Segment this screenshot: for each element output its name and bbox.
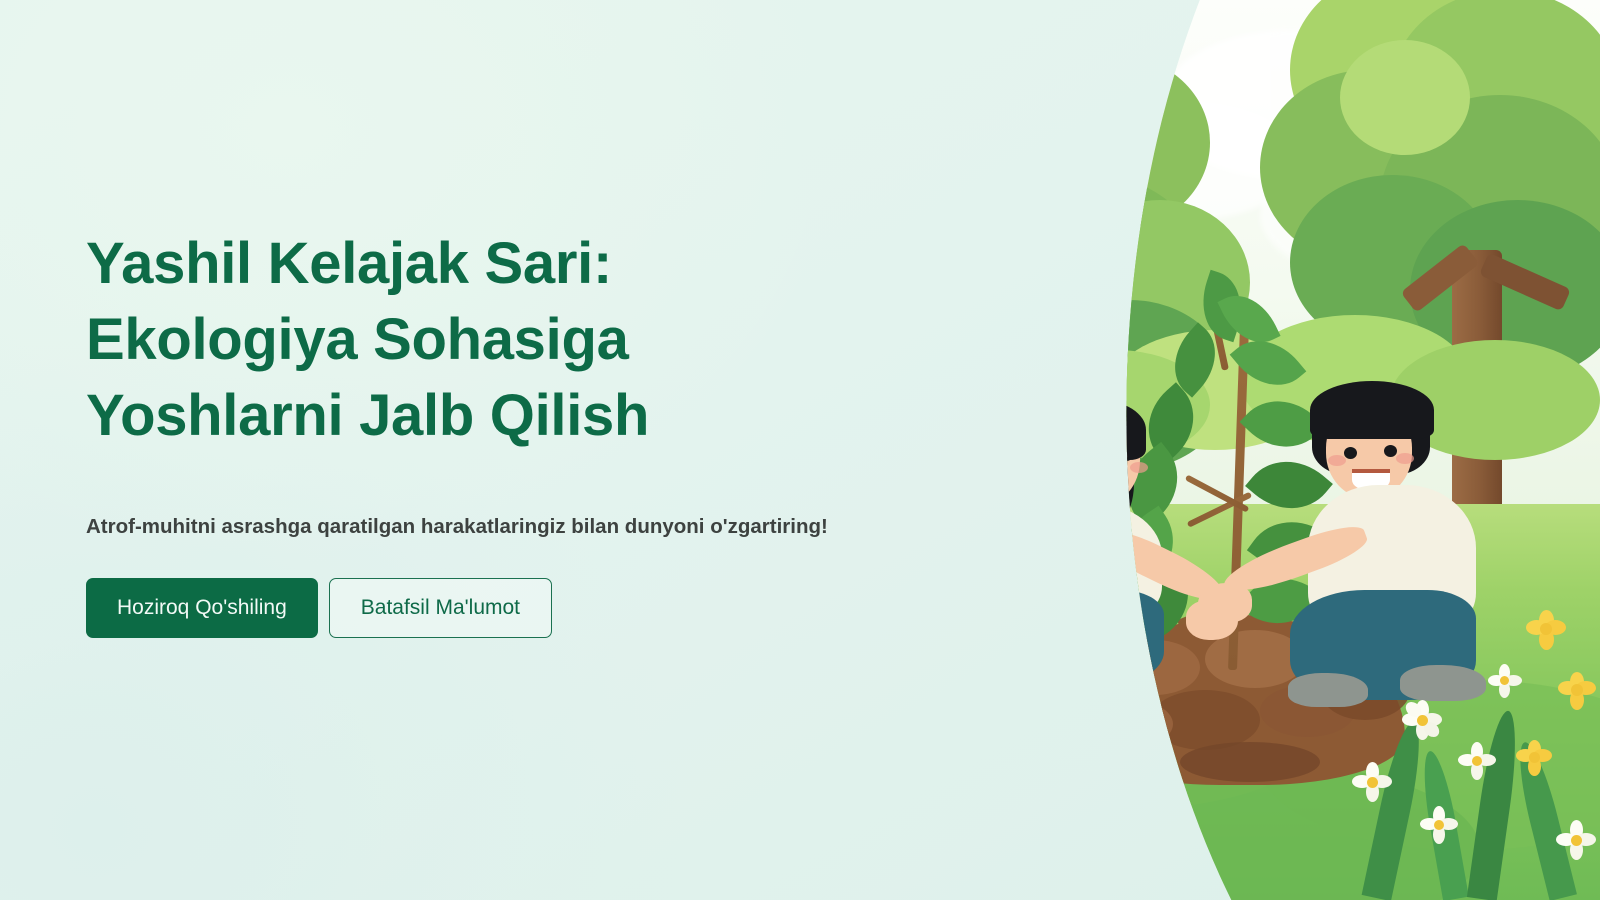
girl-hair — [1016, 395, 1134, 545]
boy-eye-right — [1384, 445, 1397, 457]
boy-eye-left — [1344, 447, 1357, 459]
girl-eye-left — [1082, 457, 1099, 465]
girl-smile — [1092, 474, 1126, 494]
more-info-button[interactable]: Batafsil Ma'lumot — [329, 578, 552, 638]
white-daisy-6 — [1556, 820, 1596, 860]
headline-line-1: Yashil Kelajak Sari: — [86, 226, 726, 302]
tree-left-trunk — [1020, 380, 1064, 530]
headline-line-2: Ekologiya Sohasiga — [86, 302, 726, 378]
girl-shoe — [1038, 662, 1114, 694]
page-title: Yashil Kelajak Sari: Ekologiya Sohasiga … — [86, 226, 726, 454]
white-daisy-2 — [1458, 742, 1496, 780]
yellow-flower-3 — [1072, 716, 1108, 752]
hero-illustration — [960, 0, 1600, 900]
yellow-flower-2 — [972, 736, 1012, 776]
hero-section: Yashil Kelajak Sari: Ekologiya Sohasiga … — [0, 0, 1600, 900]
yellow-flower-4 — [1526, 610, 1566, 650]
boy-shoe-right — [1400, 665, 1486, 701]
white-daisy-4 — [1420, 806, 1458, 844]
white-daisy-3 — [1352, 762, 1392, 802]
boy-shoe-left — [1288, 673, 1368, 707]
join-now-button[interactable]: Hoziroq Qo'shiling — [86, 578, 318, 638]
yellow-flower-1 — [1018, 690, 1064, 736]
hero-copy: Yashil Kelajak Sari: Ekologiya Sohasiga … — [86, 226, 726, 638]
hero-subtitle: Atrof-muhitni asrashga qaratilgan haraka… — [86, 506, 846, 547]
yellow-flower-6 — [1516, 740, 1552, 776]
girl-jeans — [996, 590, 1164, 686]
boy-figure — [1260, 385, 1520, 705]
yellow-flower-5 — [1558, 672, 1596, 710]
girl-figure — [990, 400, 1220, 700]
headline-line-3: Yoshlarni Jalb Qilish — [86, 378, 726, 454]
boy-hand — [1198, 583, 1252, 623]
white-daisy-5 — [1488, 664, 1522, 698]
white-daisy-1 — [1402, 700, 1442, 740]
illustration-canvas — [960, 0, 1600, 900]
cta-button-row: Hoziroq Qo'shiling Batafsil Ma'lumot — [86, 578, 726, 638]
